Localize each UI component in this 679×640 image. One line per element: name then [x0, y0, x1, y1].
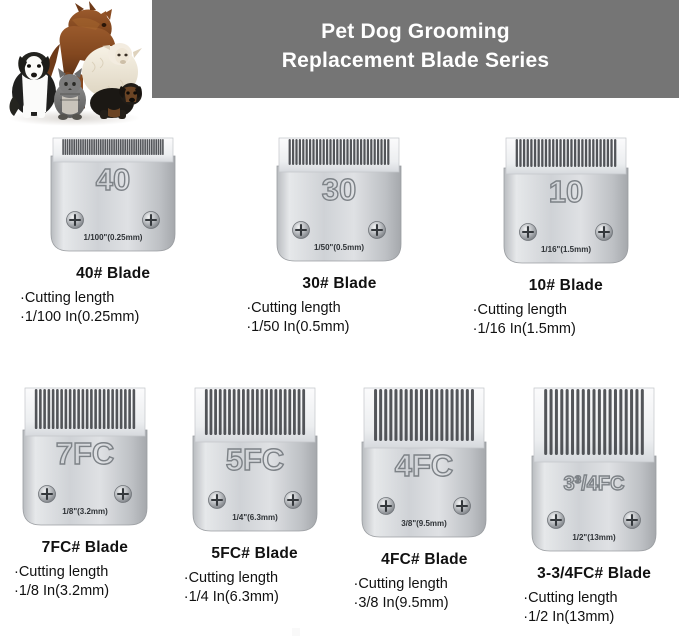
blade-image-30: 301/50"(0.5mm)	[275, 136, 403, 269]
blade-spec-line-2: ·1/2 In(13mm)	[523, 608, 675, 627]
svg-text:5FC: 5FC	[225, 442, 284, 477]
blade-spec: ·Cutting length ·1/4 In(6.3mm)	[174, 569, 336, 607]
page-title: Pet Dog Grooming Replacement Blade Serie…	[152, 17, 679, 75]
blade-spec-line-2: ·1/100 In(0.25mm)	[20, 308, 220, 327]
svg-text:7FC: 7FC	[56, 436, 115, 471]
blade-card: 301/50"(0.5mm) 30# Blade ·Cutting length…	[226, 136, 452, 339]
blade-card: 7FC1/8"(3.2mm) 7FC# Blade ·Cutting lengt…	[0, 386, 170, 627]
blade-spec-line-1: ·Cutting length	[20, 289, 220, 308]
svg-text:3/8"(9.5mm): 3/8"(9.5mm)	[402, 519, 448, 528]
blade-card: 4FC3/8"(9.5mm) 4FC# Blade ·Cutting lengt…	[340, 386, 510, 627]
blade-card: 5FC1/4"(6.3mm) 5FC# Blade ·Cutting lengt…	[170, 386, 340, 627]
blade-title: 5FC# Blade	[174, 545, 336, 563]
svg-text:4FC: 4FC	[395, 448, 454, 483]
blade-caption: 10# Blade ·Cutting length ·1/16 In(1.5mm…	[459, 277, 673, 339]
blade-caption: 3-3/4FC# Blade ·Cutting length ·1/2 In(1…	[513, 565, 675, 627]
footer-artifact	[292, 628, 300, 636]
blade-spec: ·Cutting length ·1/100 In(0.25mm)	[6, 289, 220, 327]
svg-text:40: 40	[96, 162, 130, 197]
animal-collage-image	[0, 0, 152, 126]
blade-spec: ·Cutting length ·3/8 In(9.5mm)	[344, 575, 506, 613]
blade-caption: 30# Blade ·Cutting length ·1/50 In(0.5mm…	[232, 275, 446, 337]
blade-caption: 5FC# Blade ·Cutting length ·1/4 In(6.3mm…	[174, 545, 336, 607]
blade-title: 40# Blade	[6, 265, 220, 283]
blade-spec-line-2: ·1/50 In(0.5mm)	[246, 318, 446, 337]
blade-spec: ·Cutting length ·1/8 In(3.2mm)	[4, 563, 166, 601]
blade-title: 30# Blade	[232, 275, 446, 293]
blade-spec-line-1: ·Cutting length	[473, 301, 673, 320]
blade-spec-line-2: ·3/8 In(9.5mm)	[354, 594, 506, 613]
blade-image-7fc: 7FC1/8"(3.2mm)	[21, 386, 149, 533]
blade-spec-line-2: ·1/8 In(3.2mm)	[14, 582, 166, 601]
blade-caption: 4FC# Blade ·Cutting length ·3/8 In(9.5mm…	[344, 551, 506, 613]
blade-spec-line-2: ·1/16 In(1.5mm)	[473, 320, 673, 339]
blade-card: 101/16"(1.5mm) 10# Blade ·Cutting length…	[453, 136, 679, 339]
blade-title: 3-3/4FC# Blade	[513, 565, 675, 583]
blade-image-40: 401/100"(0.25mm)	[49, 136, 177, 259]
blade-card: 401/100"(0.25mm) 40# Blade ·Cutting leng…	[0, 136, 226, 339]
blade-spec: ·Cutting length ·1/2 In(13mm)	[513, 589, 675, 627]
page-title-line-1: Pet Dog Grooming	[152, 17, 679, 46]
blade-spec-line-1: ·Cutting length	[184, 569, 336, 588]
svg-text:1/2"(13mm): 1/2"(13mm)	[572, 533, 616, 542]
blade-image-10: 101/16"(1.5mm)	[502, 136, 630, 271]
header: Pet Dog Grooming Replacement Blade Serie…	[0, 0, 679, 126]
blade-image-4fc: 4FC3/8"(9.5mm)	[360, 386, 488, 545]
blade-spec-line-1: ·Cutting length	[523, 589, 675, 608]
svg-text:30: 30	[322, 172, 356, 207]
blade-title: 10# Blade	[459, 277, 673, 295]
svg-text:3³/4FC: 3³/4FC	[564, 473, 625, 495]
svg-text:10: 10	[549, 174, 583, 209]
blade-spec-line-1: ·Cutting length	[246, 299, 446, 318]
svg-text:1/16"(1.5mm): 1/16"(1.5mm)	[541, 245, 591, 254]
blade-spec-line-1: ·Cutting length	[354, 575, 506, 594]
svg-text:1/8"(3.2mm): 1/8"(3.2mm)	[62, 507, 108, 516]
blade-image-5fc: 5FC1/4"(6.3mm)	[191, 386, 319, 539]
blade-caption: 40# Blade ·Cutting length ·1/100 In(0.25…	[6, 265, 220, 327]
page-title-line-2: Replacement Blade Series	[152, 46, 679, 75]
blade-spec: ·Cutting length ·1/50 In(0.5mm)	[232, 299, 446, 337]
blade-image-3-3-4fc: 3³/4FC1/2"(13mm)	[530, 386, 658, 559]
blade-row-1: 401/100"(0.25mm) 40# Blade ·Cutting leng…	[0, 136, 679, 339]
svg-text:1/100"(0.25mm): 1/100"(0.25mm)	[84, 233, 143, 242]
svg-text:1/4"(6.3mm): 1/4"(6.3mm)	[232, 513, 278, 522]
blade-caption: 7FC# Blade ·Cutting length ·1/8 In(3.2mm…	[4, 539, 166, 601]
blade-row-2: 7FC1/8"(3.2mm) 7FC# Blade ·Cutting lengt…	[0, 386, 679, 627]
svg-text:1/50"(0.5mm): 1/50"(0.5mm)	[314, 243, 364, 252]
blade-spec: ·Cutting length ·1/16 In(1.5mm)	[459, 301, 673, 339]
blade-spec-line-1: ·Cutting length	[14, 563, 166, 582]
blade-title: 4FC# Blade	[344, 551, 506, 569]
blade-spec-line-2: ·1/4 In(6.3mm)	[184, 588, 336, 607]
blade-title: 7FC# Blade	[4, 539, 166, 557]
blade-card: 3³/4FC1/2"(13mm) 3-3/4FC# Blade ·Cutting…	[509, 386, 679, 627]
